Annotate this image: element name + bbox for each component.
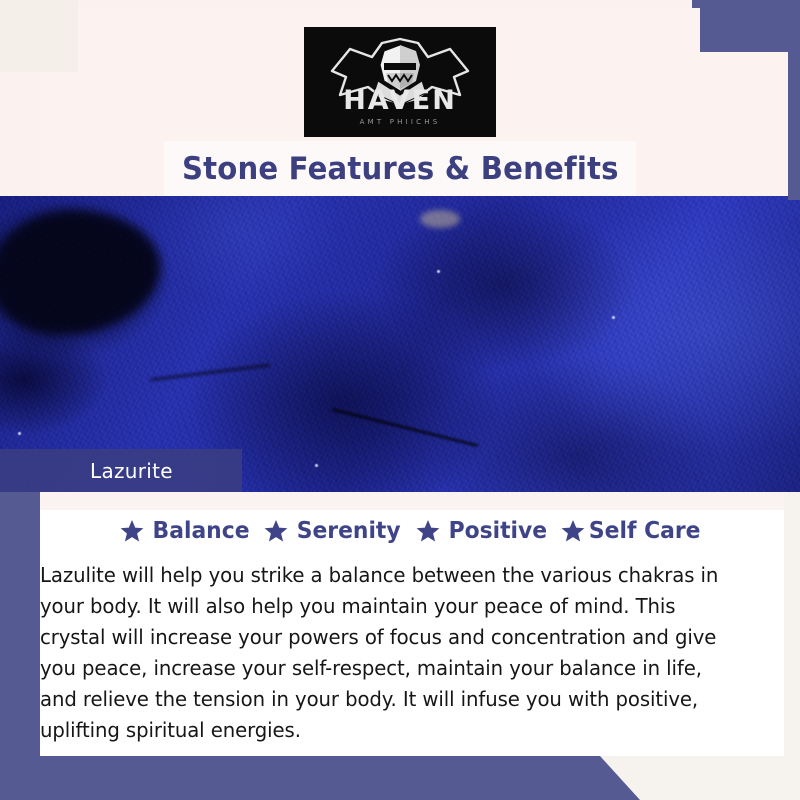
feature-label: Serenity [297,518,401,544]
star-icon [416,519,440,543]
stone-name-badge: Lazurite [0,449,242,492]
frame-right-strip [788,0,800,200]
card-top-wash [40,492,784,510]
stone-photo [0,196,800,492]
feature-label: Balance [153,518,250,544]
title-panel: Stone Features & Benefits [164,141,636,196]
feature-item: Balance [120,518,252,544]
content-card: Balance Serenity Positive Self Care [40,492,784,756]
feature-item: Self Care [561,518,703,544]
brand-logo: HAVEN AMT PHIICHS [304,27,496,137]
feature-label: Self Care [589,518,701,544]
feature-list: Balance Serenity Positive Self Care [40,518,784,544]
feature-item: Serenity [264,518,403,544]
star-icon [264,519,288,543]
logo-subtitle: AMT PHIICHS [360,118,441,126]
frame-left-strip [0,460,40,800]
stone-speck [315,464,318,467]
poster-header: HAVEN AMT PHIICHS Stone Features & Benef… [0,0,800,196]
frame-left-top-notch [0,0,78,72]
stone-texture-overlay [0,196,800,492]
stone-speck [18,432,21,435]
stone-description: Lazulite will help you strike a balance … [40,560,722,746]
stone-highlight [420,210,460,228]
stone-speck [612,316,615,319]
star-icon [561,519,585,543]
frame-bottom-band [0,756,640,800]
feature-item: Positive [416,518,550,544]
stone-info-poster: HAVEN AMT PHIICHS Stone Features & Benef… [0,0,800,800]
feature-label: Positive [448,518,547,544]
stone-speck [437,270,440,273]
frame-top-edge [692,0,800,8]
logo-wordmark: HAVEN [343,87,457,114]
stone-name-label: Lazurite [90,459,173,483]
star-icon [120,519,144,543]
page-title: Stone Features & Benefits [182,151,619,187]
